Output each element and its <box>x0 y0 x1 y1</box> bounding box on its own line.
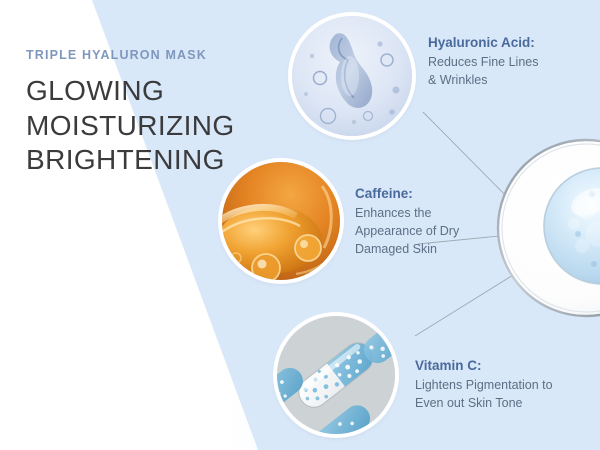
ingredient-colon: : <box>408 186 413 201</box>
ingredient-name-vitamin-c: Vitamin C: <box>415 358 553 374</box>
ingredient-label-caffeine: Caffeine: Enhances the Appearance of Dry… <box>355 186 459 258</box>
headline-line-1: GLOWING <box>26 74 256 109</box>
ingredient-description-vitamin-c: Lightens Pigmentation to Even out Skin T… <box>415 377 553 413</box>
desc-line: Even out Skin Tone <box>415 395 553 413</box>
product-jar-image <box>486 138 600 318</box>
ingredient-colon: : <box>477 358 482 373</box>
ingredient-name-caffeine: Caffeine: <box>355 186 459 202</box>
desc-line: Reduces Fine Lines <box>428 54 538 72</box>
headline-line-2: MOISTURIZING <box>26 109 256 144</box>
ingredient-image-vitamin-c <box>277 316 395 434</box>
desc-line: Enhances the <box>355 205 459 223</box>
ingredient-name-text: Caffeine <box>355 186 408 201</box>
ingredient-name-hyaluronic-acid: Hyaluronic Acid: <box>428 35 538 51</box>
ingredient-description-hyaluronic-acid: Reduces Fine Lines & Wrinkles <box>428 54 538 90</box>
desc-line: & Wrinkles <box>428 72 538 90</box>
ingredient-name-text: Vitamin C <box>415 358 477 373</box>
ingredient-colon: : <box>530 35 535 50</box>
ingredient-image-hyaluronic-acid <box>292 16 412 136</box>
eyebrow-text: TRIPLE HYALURON MASK <box>26 48 256 62</box>
ingredient-image-caffeine <box>222 162 340 280</box>
headline-block: TRIPLE HYALURON MASK GLOWING MOISTURIZIN… <box>26 48 256 178</box>
desc-line: Lightens Pigmentation to <box>415 377 553 395</box>
desc-line: Appearance of Dry <box>355 223 459 241</box>
page-title: GLOWING MOISTURIZING BRIGHTENING <box>26 74 256 178</box>
headline-line-3: BRIGHTENING <box>26 143 256 178</box>
ingredient-label-vitamin-c: Vitamin C: Lightens Pigmentation to Even… <box>415 358 553 413</box>
desc-line: Damaged Skin <box>355 241 459 259</box>
ingredient-name-text: Hyaluronic Acid <box>428 35 530 50</box>
ingredient-description-caffeine: Enhances the Appearance of Dry Damaged S… <box>355 205 459 258</box>
ingredient-label-hyaluronic-acid: Hyaluronic Acid: Reduces Fine Lines & Wr… <box>428 35 538 90</box>
infographic-canvas: TRIPLE HYALURON MASK GLOWING MOISTURIZIN… <box>0 0 600 450</box>
